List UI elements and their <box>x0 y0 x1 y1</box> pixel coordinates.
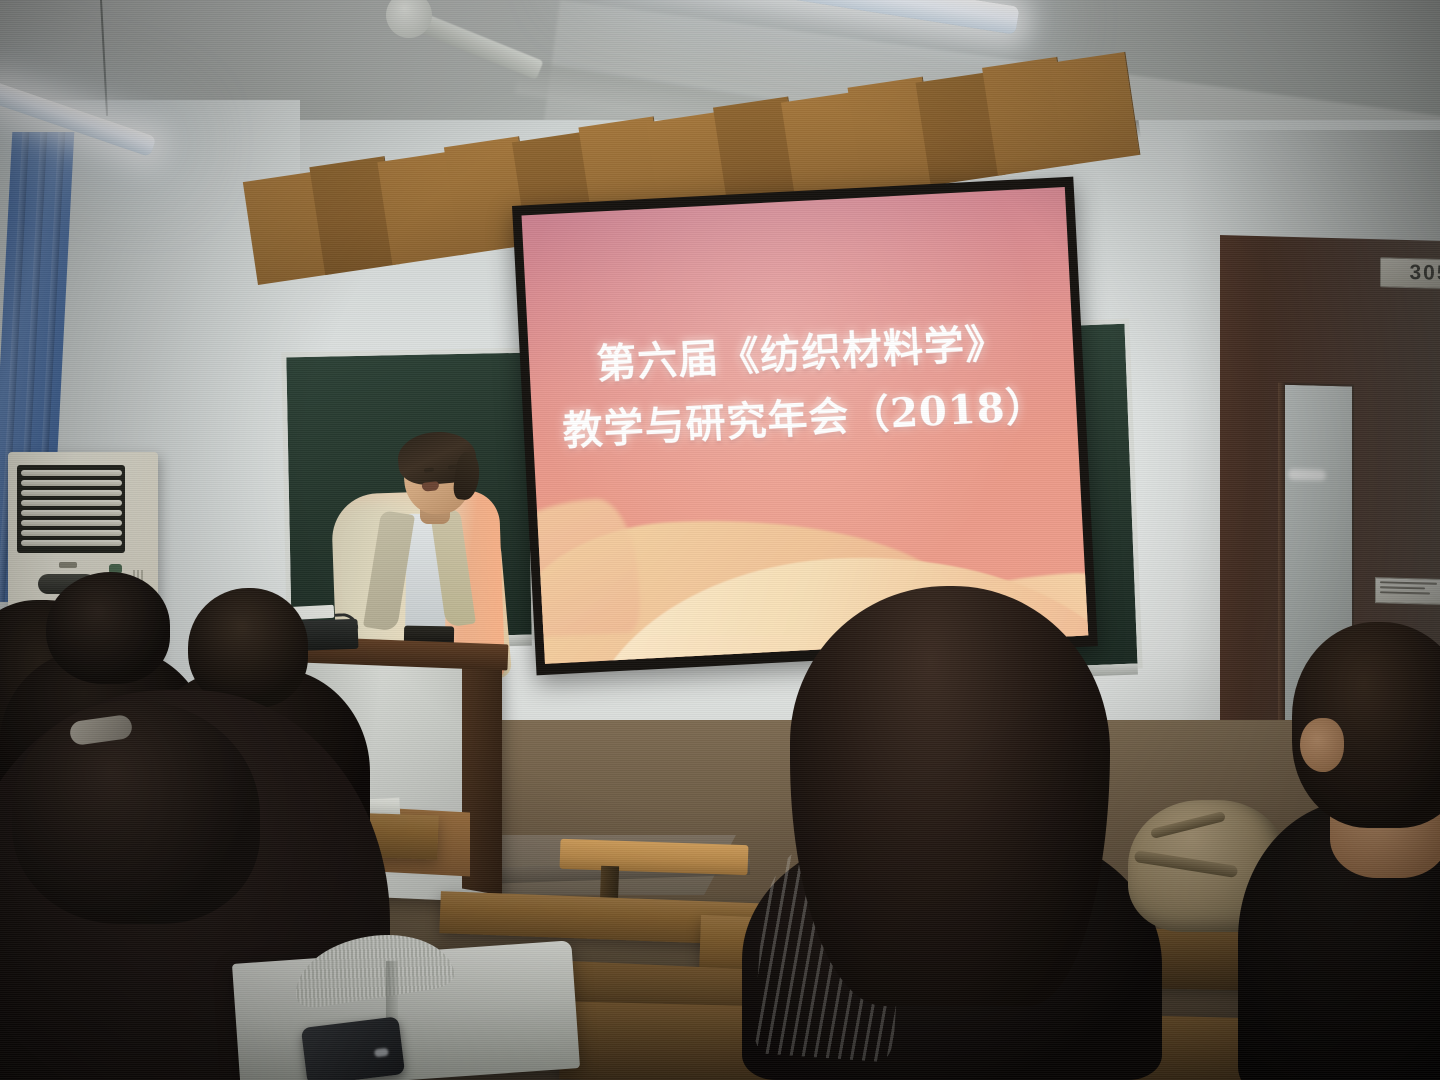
projected-slide: 第六届《纺织材料学》 教学与研究年会（2018） <box>522 187 1089 664</box>
ac-vent-slat <box>21 490 122 496</box>
ac-brand-badge <box>59 562 77 568</box>
open-book <box>232 940 580 1080</box>
audience-head <box>46 572 170 684</box>
ac-vent-slat <box>21 540 122 546</box>
wall-panel <box>1050 52 1140 166</box>
ac-vent-grille <box>17 465 125 553</box>
ac-vent-slat <box>21 530 122 536</box>
ac-vent-slat <box>21 520 122 526</box>
classroom-photo: 第六届《纺织材料学》 教学与研究年会（2018） 305 <box>0 0 1440 1080</box>
audience-long-hair <box>790 586 1110 1006</box>
ac-vent-slat <box>21 510 122 516</box>
audience-ear <box>1300 718 1344 772</box>
audience-head <box>12 700 260 924</box>
ac-vent-slat <box>21 470 122 476</box>
smartphone[interactable] <box>301 1016 405 1080</box>
ac-vent-slat <box>21 480 122 486</box>
ac-vent-slat <box>21 500 122 506</box>
screen-reflection <box>374 1048 389 1058</box>
